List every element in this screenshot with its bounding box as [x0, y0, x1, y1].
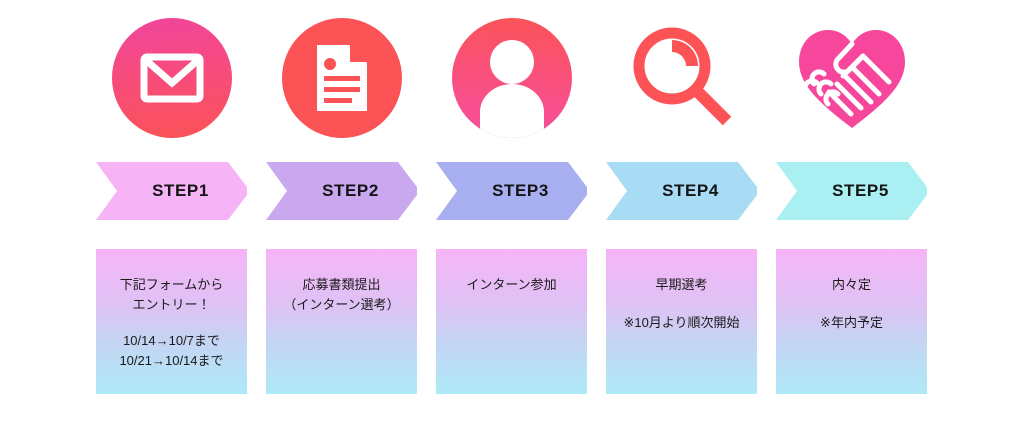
handshake-heart-icon [792, 18, 912, 138]
step-column-3: STEP3 インターン参加 [436, 0, 587, 439]
step-text-line: 早期選考 [614, 275, 749, 295]
step-box-slot-5: 内々定 ※年内予定 [776, 249, 927, 394]
step-content-box-1: 下記フォームから エントリー！ 10/14→10/7まで 10/21→10/14… [96, 249, 247, 394]
step-column-4: STEP4 早期選考 ※10月より順次開始 [606, 0, 757, 439]
document-icon [282, 18, 402, 138]
step-column-5: STEP5 内々定 ※年内予定 [776, 0, 927, 439]
step-box-slot-1: 下記フォームから エントリー！ 10/14→10/7まで 10/21→10/14… [96, 249, 247, 394]
step-label-4: STEP4 [644, 181, 719, 201]
step-chevron-3[interactable]: STEP3 [436, 162, 587, 220]
step-text-line: 下記フォームから [104, 275, 239, 295]
step-box-slot-3: インターン参加 [436, 249, 587, 394]
step-box-slot-4: 早期選考 ※10月より順次開始 [606, 249, 757, 394]
step-chevron-slot-2: STEP2 [266, 155, 417, 227]
step-text-line: ※10月より順次開始 [614, 313, 749, 333]
step-content-box-5: 内々定 ※年内予定 [776, 249, 927, 394]
step-chevron-2[interactable]: STEP2 [266, 162, 417, 220]
step-icon-slot-1 [96, 0, 247, 155]
step-text-line: 10/14→10/7まで [104, 331, 239, 351]
step-chevron-slot-4: STEP4 [606, 155, 757, 227]
step-columns: STEP1 下記フォームから エントリー！ 10/14→10/7まで 10/21… [96, 0, 928, 439]
step-chevron-slot-3: STEP3 [436, 155, 587, 227]
step-chevron-1[interactable]: STEP1 [96, 162, 247, 220]
step-chevron-slot-1: STEP1 [96, 155, 247, 227]
magnifier-icon [622, 18, 742, 138]
person-icon [452, 18, 572, 138]
step-content-box-2: 応募書類提出 （インターン選考） [266, 249, 417, 394]
step-chevron-slot-5: STEP5 [776, 155, 927, 227]
step-text-line: （インターン選考） [274, 295, 409, 315]
step-column-2: STEP2 応募書類提出 （インターン選考） [266, 0, 417, 439]
step-label-5: STEP5 [814, 181, 889, 201]
step-text-line: エントリー！ [104, 295, 239, 315]
step-text-line: 内々定 [784, 275, 919, 295]
step-text-line: ※年内予定 [784, 313, 919, 333]
step-chevron-4[interactable]: STEP4 [606, 162, 757, 220]
step-label-1: STEP1 [134, 181, 209, 201]
step-icon-slot-5 [776, 0, 927, 155]
step-text-line: 10/21→10/14まで [104, 351, 239, 371]
step-content-box-3: インターン参加 [436, 249, 587, 394]
step-label-3: STEP3 [474, 181, 549, 201]
step-chevron-5[interactable]: STEP5 [776, 162, 927, 220]
step-box-slot-2: 応募書類提出 （インターン選考） [266, 249, 417, 394]
envelope-icon [112, 18, 232, 138]
step-icon-slot-2 [266, 0, 417, 155]
step-label-2: STEP2 [304, 181, 379, 201]
step-flow-diagram: STEP1 下記フォームから エントリー！ 10/14→10/7まで 10/21… [0, 0, 1024, 439]
step-icon-slot-4 [606, 0, 757, 155]
step-icon-slot-3 [436, 0, 587, 155]
step-text-line: インターン参加 [444, 275, 579, 295]
step-text-line: 応募書類提出 [274, 275, 409, 295]
step-column-1: STEP1 下記フォームから エントリー！ 10/14→10/7まで 10/21… [96, 0, 247, 439]
step-content-box-4: 早期選考 ※10月より順次開始 [606, 249, 757, 394]
